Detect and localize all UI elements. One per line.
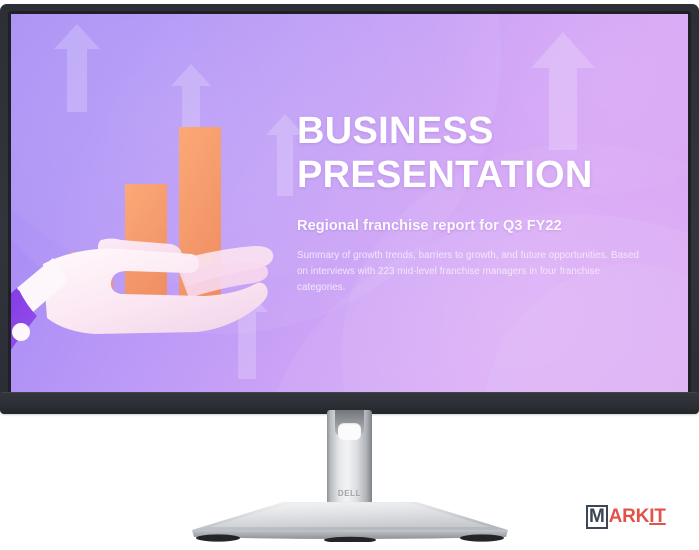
- hand-holding-bar-chart-illustration: [11, 32, 281, 377]
- slide-title-line-1: BUSINESS: [297, 109, 669, 153]
- growth-arrow-icon: [54, 24, 100, 112]
- monitor-stand-neck: DELL: [327, 410, 372, 507]
- slide-text-block: BUSINESS PRESENTATION Regional franchise…: [297, 109, 669, 295]
- growth-arrow-icon: [226, 289, 268, 379]
- dell-logo-on-stand: DELL: [327, 489, 372, 498]
- slide-body-text: Summary of growth trends, barriers to gr…: [297, 248, 645, 296]
- slide-title-line-2: PRESENTATION: [297, 153, 669, 197]
- cable-management-hole: [338, 423, 361, 440]
- bezel-highlight-line: [2, 392, 697, 393]
- bar-2: [125, 184, 167, 322]
- bar-1: [71, 252, 113, 322]
- base-foot: [196, 534, 240, 541]
- product-image-canvas: BUSINESS PRESENTATION Regional franchise…: [0, 0, 699, 550]
- bar-3: [179, 127, 221, 322]
- slide-title: BUSINESS PRESENTATION: [297, 109, 669, 198]
- monitor-body: BUSINESS PRESENTATION Regional franchise…: [0, 4, 699, 414]
- growth-arrow-icon: [171, 64, 211, 144]
- watermark-boxed-letter: M: [586, 505, 608, 529]
- slide-subtitle: Regional franchise report for Q3 FY22: [297, 218, 669, 234]
- monitor-screen: BUSINESS PRESENTATION Regional franchise…: [11, 14, 688, 393]
- base-foot: [460, 534, 504, 541]
- watermark-underlined-text: IT: [649, 506, 666, 528]
- monitor-stand-base: [190, 500, 510, 542]
- watermark-middle-text: ARK: [609, 506, 650, 528]
- markit-watermark: M ARK IT: [586, 505, 666, 529]
- sleeve-button: [12, 323, 30, 341]
